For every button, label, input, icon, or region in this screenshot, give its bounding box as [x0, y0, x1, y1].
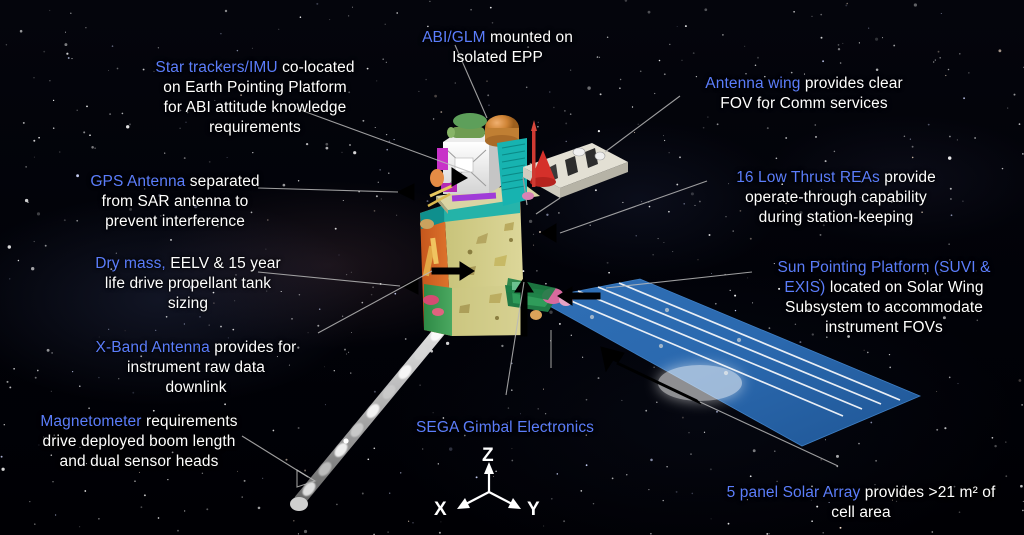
- antenna-wing-highlight: Antenna wing: [705, 75, 800, 92]
- antenna-wing: [522, 120, 628, 214]
- dry-mass-highlight: Dry mass,: [95, 255, 166, 272]
- star-trackers-callout: Star trackers/IMU co-located on Earth Po…: [120, 38, 390, 138]
- solar-array-highlight: 5 panel Solar Array: [727, 484, 861, 501]
- abi-glm-callout: ABI/GLM mounted on Isolated EPP: [385, 8, 610, 68]
- star-trackers-highlight: Star trackers/IMU: [155, 59, 277, 76]
- spacecraft-bus: [420, 196, 573, 336]
- low-thrust-reas-highlight: 16 Low Thrust REAs: [736, 169, 880, 186]
- x-band-antenna-highlight: X-Band Antenna: [96, 339, 210, 356]
- gps-antenna-highlight: GPS Antenna: [90, 173, 185, 190]
- magnetometer-highlight: Magnetometer: [40, 413, 141, 430]
- solar-array-callout: 5 panel Solar Array provides >21 m² of c…: [702, 463, 1020, 523]
- gps-antenna-callout: GPS Antenna separated from SAR antenna t…: [40, 152, 310, 232]
- figure-canvas: Z X Y ABI/GLM mounted on Isolated EPP St…: [0, 0, 1024, 535]
- sega-gimbal-callout: SEGA Gimbal Electronics: [385, 398, 625, 438]
- antenna-wing-callout: Antenna wing provides clear FOV for Comm…: [678, 54, 930, 114]
- earth-pointing-platform: [428, 113, 540, 214]
- dry-mass-callout: Dry mass, EELV & 15 year life drive prop…: [52, 234, 324, 314]
- low-thrust-reas-callout: 16 Low Thrust REAs provide operate-throu…: [700, 148, 972, 228]
- sun-pointing-platform-callout: Sun Pointing Platform (SUVI & EXIS) loca…: [746, 238, 1022, 338]
- magnetometer-callout: Magnetometer requirements drive deployed…: [8, 392, 270, 472]
- sega-gimbal-highlight: SEGA Gimbal Electronics: [416, 419, 594, 436]
- abi-glm-highlight: ABI/GLM: [422, 29, 486, 46]
- x-band-antenna-callout: X-Band Antenna provides for instrument r…: [60, 318, 332, 398]
